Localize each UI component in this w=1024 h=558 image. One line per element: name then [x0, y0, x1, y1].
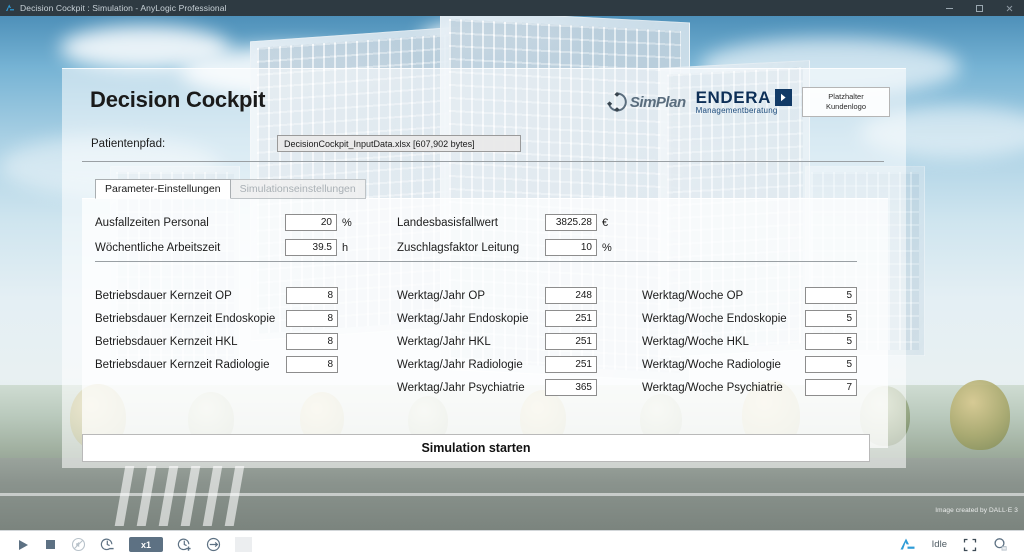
window-controls: [934, 0, 1024, 16]
betriebsdauer-kernzeit-endoskopie-input[interactable]: 8: [286, 310, 338, 327]
werktag-woche-radiologie-input[interactable]: 5: [805, 356, 857, 373]
tab-label: Parameter-Einstellungen: [105, 183, 221, 195]
landesbasisfallwert-input[interactable]: 3825.28: [545, 214, 597, 231]
patientenpfad-label: Patientenpfad:: [91, 138, 165, 150]
field-label: Werktag/Woche Endoskopie: [642, 313, 805, 325]
simplan-logo: SimPlan: [606, 91, 686, 113]
werktag-jahr-psychiatrie-input[interactable]: 365: [545, 379, 597, 396]
logo-group: SimPlan ENDERA Managementberatung P: [606, 87, 890, 117]
field-label: Werktag/Jahr HKL: [397, 336, 545, 348]
field-label: Ausfallzeiten Personal: [95, 217, 285, 229]
form-row: Werktag/Jahr Endoskopie 251: [397, 310, 597, 327]
run-icon[interactable]: [16, 538, 30, 552]
patientenpfad-file-field[interactable]: DecisionCockpit_InputData.xlsx [607,902 …: [277, 135, 521, 152]
page-title: Decision Cockpit: [90, 87, 265, 113]
tab-strip: Parameter-Einstellungen Simulationseinst…: [95, 179, 366, 199]
field-label: Landesbasisfallwert: [397, 217, 545, 229]
field-label: Betriebsdauer Kernzeit HKL: [95, 336, 286, 348]
form-row: Wöchentliche Arbeitszeit 39.5 h: [95, 239, 355, 256]
form-row: Werktag/Woche HKL 5: [642, 333, 857, 350]
field-label: Werktag/Woche Psychiatrie: [642, 382, 805, 394]
field-label: Werktag/Woche Radiologie: [642, 359, 805, 371]
form-row: Werktag/Jahr Radiologie 251: [397, 356, 597, 373]
form-row: Werktag/Woche Radiologie 5: [642, 356, 857, 373]
road-marking: [0, 493, 1024, 496]
slow-down-icon[interactable]: [100, 537, 115, 552]
form-row: Ausfallzeiten Personal 20 %: [95, 214, 355, 231]
anylogic-icon: [5, 3, 15, 13]
werktag-jahr-op-input[interactable]: 248: [545, 287, 597, 304]
form-row: Werktag/Jahr Psychiatrie 365: [397, 379, 597, 396]
form-row: Werktag/Jahr OP 248: [397, 287, 597, 304]
field-label: Betriebsdauer Kernzeit Endoskopie: [95, 313, 286, 325]
werktag-jahr-hkl-input[interactable]: 251: [545, 333, 597, 350]
werktag-jahr-endoskopie-input[interactable]: 251: [545, 310, 597, 327]
placeholder-line-2: Kundenlogo: [826, 102, 866, 112]
form-row: Betriebsdauer Kernzeit Endoskopie 8: [95, 310, 338, 327]
field-unit: €: [602, 217, 608, 229]
decision-cockpit-panel: Decision Cockpit Patientenpfad: Decision…: [62, 68, 906, 468]
maximize-icon[interactable]: [964, 0, 994, 16]
tab-parameter-einstellungen[interactable]: Parameter-Einstellungen: [95, 179, 231, 199]
header-divider: [82, 161, 884, 162]
stop-icon[interactable]: [44, 538, 57, 551]
panel-header: Decision Cockpit Patientenpfad: Decision…: [62, 69, 906, 167]
minimize-icon[interactable]: [934, 0, 964, 16]
form-row: Betriebsdauer Kernzeit HKL 8: [95, 333, 338, 350]
window-title: Decision Cockpit : Simulation - AnyLogic…: [20, 3, 227, 13]
customer-logo-placeholder: Platzhalter Kundenlogo: [802, 87, 890, 117]
placeholder-line-1: Platzhalter: [828, 92, 863, 102]
form-row: Werktag/Woche Endoskopie 5: [642, 310, 857, 327]
field-label: Werktag/Jahr OP: [397, 290, 545, 302]
field-unit: %: [342, 217, 352, 229]
zoom-inspect-icon[interactable]: [993, 537, 1008, 552]
field-label: Zuschlagsfaktor Leitung: [397, 242, 545, 254]
woechentliche-arbeitszeit-input[interactable]: 39.5: [285, 239, 337, 256]
toolbar-spacer: [235, 537, 252, 552]
form-row: Betriebsdauer Kernzeit Radiologie 8: [95, 356, 338, 373]
simplan-mark-icon: [606, 91, 628, 113]
form-row: Betriebsdauer Kernzeit OP 8: [95, 287, 338, 304]
form-row: Landesbasisfallwert 3825.28 €: [397, 214, 687, 231]
field-unit: h: [342, 242, 348, 254]
close-icon[interactable]: [994, 0, 1024, 16]
parameter-settings-card: Ausfallzeiten Personal 20 % Wöchentliche…: [82, 198, 888, 448]
form-row: Werktag/Woche OP 5: [642, 287, 857, 304]
werktag-woche-endoskopie-input[interactable]: 5: [805, 310, 857, 327]
tab-simulationseinstellungen[interactable]: Simulationseinstellungen: [230, 179, 366, 199]
field-label: Werktag/Jahr Endoskopie: [397, 313, 545, 325]
werktag-jahr-radiologie-input[interactable]: 251: [545, 356, 597, 373]
simulation-status: Idle: [932, 539, 947, 550]
image-watermark: Image created by DALL·E 3: [935, 507, 1018, 514]
fullscreen-icon[interactable]: [963, 538, 977, 552]
sound-off-icon[interactable]: [71, 537, 86, 552]
run-to-icon[interactable]: [206, 537, 221, 552]
speed-multiplier-badge[interactable]: x1: [129, 537, 163, 552]
simplan-wordmark: SimPlan: [630, 94, 686, 111]
endera-tagline: Managementberatung: [696, 107, 792, 115]
title-bar: Decision Cockpit : Simulation - AnyLogic…: [0, 0, 1024, 16]
werktag-woche-op-input[interactable]: 5: [805, 287, 857, 304]
field-label: Werktag/Woche OP: [642, 290, 805, 302]
toolbar-left-group: x1: [0, 537, 252, 552]
field-label: Werktag/Jahr Psychiatrie: [397, 382, 545, 394]
simulation-toolbar: x1: [0, 530, 1024, 558]
application-window: Decision Cockpit : Simulation - AnyLogic…: [0, 0, 1024, 558]
field-unit: %: [602, 242, 612, 254]
field-label: Betriebsdauer Kernzeit Radiologie: [95, 359, 286, 371]
betriebsdauer-kernzeit-op-input[interactable]: 8: [286, 287, 338, 304]
zuschlagsfaktor-leitung-input[interactable]: 10: [545, 239, 597, 256]
card-divider: [95, 261, 857, 262]
betriebsdauer-kernzeit-radiologie-input[interactable]: 8: [286, 356, 338, 373]
tab-label: Simulationseinstellungen: [240, 183, 356, 195]
endera-wordmark: ENDERA: [696, 89, 771, 106]
field-label: Werktag/Woche HKL: [642, 336, 805, 348]
form-row: Werktag/Jahr HKL 251: [397, 333, 597, 350]
endera-chevron-icon: [775, 89, 792, 106]
toolbar-right-group: Idle: [899, 536, 1024, 553]
field-label: Betriebsdauer Kernzeit OP: [95, 290, 286, 302]
speed-up-icon[interactable]: [177, 537, 192, 552]
ausfallzeiten-personal-input[interactable]: 20: [285, 214, 337, 231]
form-row: Zuschlagsfaktor Leitung 10 %: [397, 239, 687, 256]
field-label: Werktag/Jahr Radiologie: [397, 359, 545, 371]
simulation-starten-button[interactable]: Simulation starten: [82, 434, 870, 462]
betriebsdauer-kernzeit-hkl-input[interactable]: 8: [286, 333, 338, 350]
werktag-woche-hkl-input[interactable]: 5: [805, 333, 857, 350]
form-row: Werktag/Woche Psychiatrie 7: [642, 379, 857, 396]
field-label: Wöchentliche Arbeitszeit: [95, 242, 285, 254]
anylogic-logo-icon[interactable]: [899, 536, 916, 553]
tree-shape: [950, 380, 1010, 450]
werktag-woche-psychiatrie-input[interactable]: 7: [805, 379, 857, 396]
endera-logo: ENDERA Managementberatung: [696, 89, 792, 115]
